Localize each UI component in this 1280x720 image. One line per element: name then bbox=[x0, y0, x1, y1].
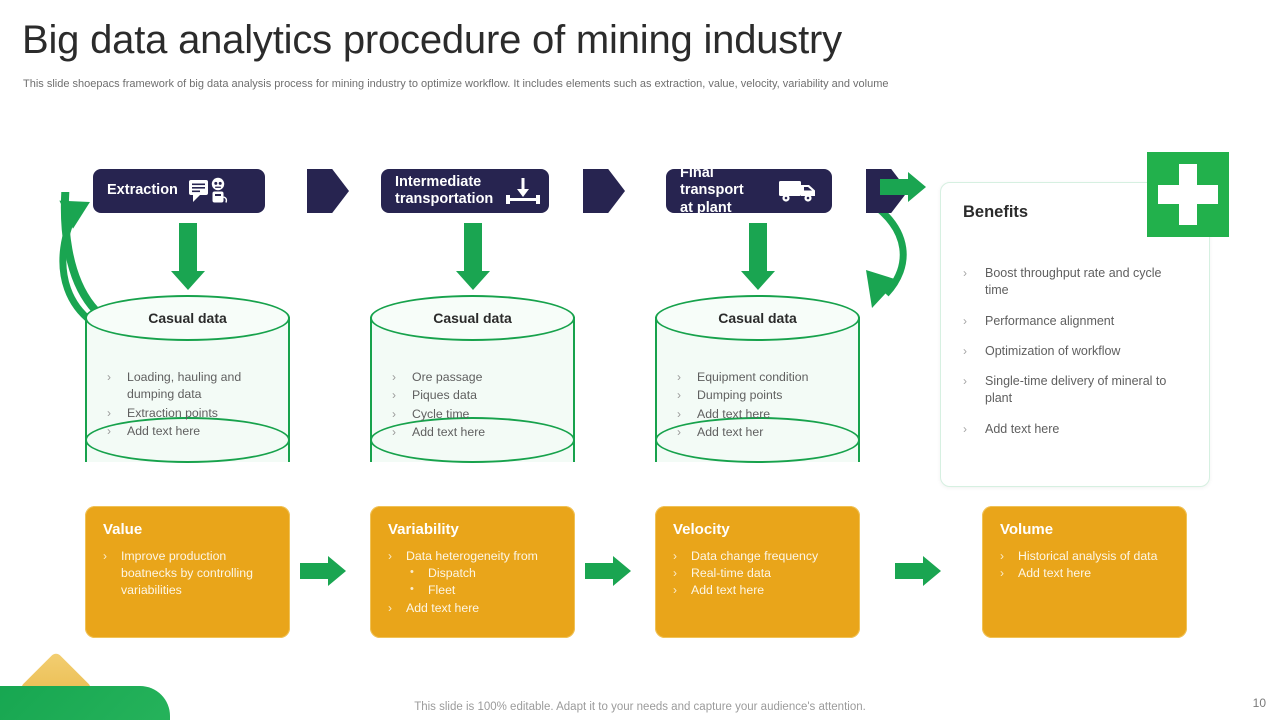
list-item-label: Improve production boatnecks by controll… bbox=[121, 549, 253, 597]
chevron-bullet-icon: › bbox=[107, 423, 111, 440]
chevron-bullet-icon: › bbox=[392, 424, 396, 441]
dot-bullet-icon: • bbox=[410, 565, 414, 580]
list-item: ›Cycle time bbox=[392, 406, 562, 423]
list-item-label: Data heterogeneity from bbox=[406, 549, 538, 563]
curved-arrow-right bbox=[852, 196, 932, 316]
list-item: ›Add text here bbox=[963, 421, 1173, 438]
cylinder-list: ›Ore passage ›Piques data ›Cycle time ›A… bbox=[392, 369, 562, 443]
flow-arrow-variability-to-velocity bbox=[585, 556, 631, 586]
chevron-bullet-icon: › bbox=[388, 548, 392, 565]
page-subtitle: This slide shoepacs framework of big dat… bbox=[23, 78, 889, 90]
list-item: ›Add text her bbox=[677, 424, 847, 441]
list-item: ›Add text here bbox=[677, 406, 847, 423]
chevron-bullet-icon: › bbox=[677, 424, 681, 441]
chevron-bullet-icon: › bbox=[963, 421, 967, 438]
stage-banner-label: Extraction bbox=[107, 182, 178, 199]
flow-arrow-to-benefits bbox=[880, 172, 926, 202]
list-item-label: Dumping points bbox=[697, 388, 782, 402]
list-item: ›Add text here bbox=[388, 600, 566, 617]
list-item-label: Equipment condition bbox=[697, 370, 808, 384]
list-item-label: Extraction points bbox=[127, 406, 218, 420]
chevron-bullet-icon: › bbox=[963, 313, 967, 330]
list-item-label: Add text here bbox=[127, 424, 200, 438]
banner-arrow-tip bbox=[583, 169, 625, 213]
cylinder-title: Casual data bbox=[85, 295, 290, 341]
down-arrow-stage-3 bbox=[741, 223, 775, 290]
list-item: ›Equipment condition bbox=[677, 369, 847, 386]
chevron-bullet-icon: › bbox=[392, 369, 396, 386]
list-item: ›Loading, hauling and dumping data bbox=[107, 369, 277, 404]
list-item-label: Add text here bbox=[985, 422, 1059, 436]
list-item: ›Data heterogeneity from bbox=[388, 548, 566, 565]
list-item-label: Add text her bbox=[697, 425, 763, 439]
chevron-bullet-icon: › bbox=[963, 343, 967, 360]
list-item-label: Ore passage bbox=[412, 370, 482, 384]
list-item-label: Loading, hauling and dumping data bbox=[127, 370, 241, 401]
cylinder-title: Casual data bbox=[655, 295, 860, 341]
list-item-label: Real-time data bbox=[691, 566, 771, 580]
chevron-bullet-icon: › bbox=[392, 387, 396, 404]
list-item-label: Fleet bbox=[428, 583, 455, 597]
list-item: •Dispatch bbox=[388, 565, 566, 582]
card-list: ›Data change frequency ›Real-time data ›… bbox=[673, 548, 851, 600]
card-title: Velocity bbox=[673, 521, 730, 538]
page-number: 10 bbox=[1253, 696, 1266, 710]
list-item: ›Performance alignment bbox=[963, 313, 1173, 330]
banner-body: Intermediate transportation bbox=[381, 169, 549, 213]
chevron-bullet-icon: › bbox=[677, 369, 681, 386]
card-title: Value bbox=[103, 521, 142, 538]
banner-arrow-tip bbox=[307, 169, 349, 213]
list-item: ›Real-time data bbox=[673, 565, 851, 582]
down-arrow-stage-1 bbox=[171, 223, 205, 290]
list-item-label: Dispatch bbox=[428, 566, 476, 580]
list-item: ›Optimization of workflow bbox=[963, 343, 1173, 360]
chevron-bullet-icon: › bbox=[1000, 565, 1004, 582]
dot-bullet-icon: • bbox=[410, 582, 414, 597]
list-item: •Fleet bbox=[388, 582, 566, 599]
cylinder-list: ›Loading, hauling and dumping data ›Extr… bbox=[107, 369, 277, 442]
flow-arrow-value-to-variability bbox=[300, 556, 346, 586]
flow-arrow-velocity-to-volume bbox=[895, 556, 941, 586]
chevron-bullet-icon: › bbox=[388, 600, 392, 617]
conveyor-drop-icon bbox=[503, 176, 543, 206]
down-arrow-stage-2 bbox=[456, 223, 490, 290]
cylinder-list: ›Equipment condition ›Dumping points ›Ad… bbox=[677, 369, 847, 443]
chevron-bullet-icon: › bbox=[107, 405, 111, 422]
list-item: ›Single-time delivery of mineral to plan… bbox=[963, 373, 1173, 408]
list-item: ›Data change frequency bbox=[673, 548, 851, 565]
data-cylinder-intermediate: Casual data ›Ore passage ›Piques data ›C… bbox=[370, 295, 575, 480]
list-item-label: Piques data bbox=[412, 388, 477, 402]
stage-banner-label: Final transport at plant bbox=[680, 165, 768, 216]
list-item: ›Piques data bbox=[392, 387, 562, 404]
list-item: ›Add text here bbox=[107, 423, 277, 440]
attribute-card-velocity[interactable]: Velocity ›Data change frequency ›Real-ti… bbox=[655, 506, 860, 638]
list-item: ›Ore passage bbox=[392, 369, 562, 386]
list-item: ›Add text here bbox=[1000, 565, 1178, 582]
page-title: Big data analytics procedure of mining i… bbox=[22, 18, 842, 63]
delivery-truck-icon bbox=[778, 178, 820, 204]
attribute-card-value[interactable]: Value ›Improve production boatnecks by c… bbox=[85, 506, 290, 638]
list-item: ›Historical analysis of data bbox=[1000, 548, 1178, 565]
card-list: ›Improve production boatnecks by control… bbox=[103, 548, 281, 600]
chevron-bullet-icon: › bbox=[963, 373, 967, 390]
list-item-label: Add text here bbox=[1018, 566, 1091, 580]
list-item-label: Optimization of workflow bbox=[985, 344, 1120, 358]
attribute-card-volume[interactable]: Volume ›Historical analysis of data ›Add… bbox=[982, 506, 1187, 638]
benefits-title: Benefits bbox=[963, 203, 1028, 222]
chevron-bullet-icon: › bbox=[677, 406, 681, 423]
banner-body: Extraction bbox=[93, 169, 265, 213]
chevron-bullet-icon: › bbox=[673, 565, 677, 582]
chevron-bullet-icon: › bbox=[677, 387, 681, 404]
chevron-bullet-icon: › bbox=[392, 406, 396, 423]
list-item-label: Single-time delivery of mineral to plant bbox=[985, 374, 1166, 405]
list-item-label: Data change frequency bbox=[691, 549, 818, 563]
list-item: ›Add text here bbox=[392, 424, 562, 441]
slide-canvas: Big data analytics procedure of mining i… bbox=[0, 0, 1280, 720]
cylinder-title: Casual data bbox=[370, 295, 575, 341]
chevron-bullet-icon: › bbox=[673, 582, 677, 599]
list-item: ›Boost throughput rate and cycle time bbox=[963, 265, 1173, 300]
footer-note: This slide is 100% editable. Adapt it to… bbox=[0, 701, 1280, 713]
data-cylinder-extraction: Casual data ›Loading, hauling and dumpin… bbox=[85, 295, 290, 480]
card-title: Volume bbox=[1000, 521, 1053, 538]
list-item: ›Add text here bbox=[673, 582, 851, 599]
benefits-list: ›Boost throughput rate and cycle time ›P… bbox=[963, 265, 1173, 451]
list-item: ›Extraction points bbox=[107, 405, 277, 422]
chevron-bullet-icon: › bbox=[673, 548, 677, 565]
banner-body: Final transport at plant bbox=[666, 169, 832, 213]
list-item-label: Performance alignment bbox=[985, 314, 1114, 328]
list-item-label: Add text here bbox=[406, 601, 479, 615]
plus-cross-icon bbox=[1147, 152, 1229, 237]
chevron-bullet-icon: › bbox=[963, 265, 967, 282]
card-list: ›Historical analysis of data ›Add text h… bbox=[1000, 548, 1178, 582]
list-item-label: Add text here bbox=[691, 583, 764, 597]
stage-banner-label: Intermediate transportation bbox=[395, 174, 493, 208]
list-item-label: Add text here bbox=[697, 407, 770, 421]
data-cylinder-final-transport: Casual data ›Equipment condition ›Dumpin… bbox=[655, 295, 860, 480]
chevron-bullet-icon: › bbox=[1000, 548, 1004, 565]
card-list: ›Data heterogeneity from •Dispatch •Flee… bbox=[388, 548, 566, 617]
card-title: Variability bbox=[388, 521, 459, 538]
list-item-label: Add text here bbox=[412, 425, 485, 439]
list-item: ›Improve production boatnecks by control… bbox=[103, 548, 281, 600]
attribute-card-variability[interactable]: Variability ›Data heterogeneity from •Di… bbox=[370, 506, 575, 638]
chatbot-document-icon bbox=[188, 177, 228, 205]
chevron-bullet-icon: › bbox=[103, 548, 107, 565]
list-item-label: Boost throughput rate and cycle time bbox=[985, 266, 1162, 297]
list-item-label: Historical analysis of data bbox=[1018, 549, 1157, 563]
chevron-bullet-icon: › bbox=[107, 369, 111, 386]
list-item-label: Cycle time bbox=[412, 407, 469, 421]
list-item: ›Dumping points bbox=[677, 387, 847, 404]
